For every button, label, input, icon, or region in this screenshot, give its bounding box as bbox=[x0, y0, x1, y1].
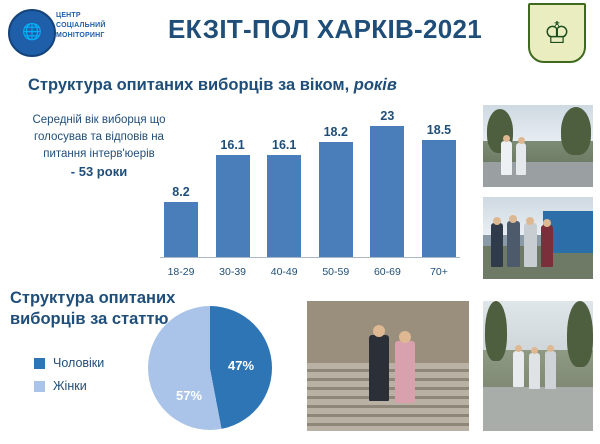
pie-label-women: 57% bbox=[176, 388, 202, 403]
bar-column: 18.5 bbox=[418, 108, 460, 258]
figure-shape bbox=[369, 335, 389, 401]
average-age-value: - 53 роки bbox=[71, 164, 127, 179]
figure-head bbox=[518, 137, 525, 144]
legend-swatch-men bbox=[34, 358, 45, 369]
tree-shape bbox=[485, 301, 507, 361]
average-age-note-line-2: голосував та відповів на bbox=[34, 131, 164, 143]
figure-head bbox=[509, 215, 517, 223]
figure-head bbox=[399, 331, 411, 343]
photo-road bbox=[483, 162, 593, 187]
tree-shape bbox=[561, 107, 591, 155]
figure-shape bbox=[501, 141, 512, 175]
bar-column: 23 bbox=[366, 108, 408, 258]
figure-head bbox=[531, 347, 538, 354]
figure-head bbox=[543, 219, 551, 227]
age-section-title-italic: років bbox=[354, 76, 397, 94]
category-label: 70+ bbox=[418, 266, 460, 278]
photo-voters-on-stairs bbox=[306, 300, 470, 432]
category-label: 30-39 bbox=[212, 266, 254, 278]
figure-shape bbox=[541, 225, 553, 267]
figure-shape bbox=[513, 351, 524, 387]
figure-shape bbox=[507, 221, 520, 267]
age-bar-chart: 8.2 16.1 16.1 18.2 23 18.5 18-29 30-39 4… bbox=[160, 108, 460, 280]
bar-rect bbox=[319, 142, 353, 258]
photo-road bbox=[483, 387, 593, 431]
bar-rect bbox=[216, 155, 250, 258]
bar-column: 8.2 bbox=[160, 108, 202, 258]
bar-rect bbox=[370, 126, 404, 258]
bar-value-label: 16.1 bbox=[220, 138, 244, 152]
figure-shape bbox=[545, 351, 556, 389]
photo-medics-outdoors bbox=[482, 104, 594, 188]
bar-value-label: 8.2 bbox=[172, 185, 189, 199]
figure-head bbox=[515, 345, 522, 352]
bar-value-label: 18.5 bbox=[427, 123, 451, 137]
age-section-title: Структура опитаних виборців за віком, ро… bbox=[28, 76, 397, 95]
tree-shape bbox=[567, 301, 593, 367]
gender-section-title-line-2: виборців за статтю bbox=[10, 310, 169, 328]
figure-shape bbox=[529, 353, 540, 389]
figure-head bbox=[526, 217, 534, 225]
heraldic-horse-icon: ♔ bbox=[544, 19, 571, 49]
figure-shape bbox=[524, 223, 537, 267]
average-age-note-line-1: Середній вік виборця що bbox=[32, 114, 165, 126]
bar-rect bbox=[422, 140, 456, 258]
average-age-note: Середній вік виборця що голосував та від… bbox=[14, 112, 184, 182]
photo-people-walking-park bbox=[482, 300, 594, 432]
bar-column: 16.1 bbox=[212, 108, 254, 258]
logo-badge: 🌐 bbox=[8, 9, 56, 57]
bar-column: 16.1 bbox=[263, 108, 305, 258]
city-crest: ♔ bbox=[528, 3, 586, 63]
bar-value-label: 23 bbox=[380, 109, 394, 123]
category-label: 18-29 bbox=[160, 266, 202, 278]
page-title: ЕКЗІТ-ПОЛ ХАРКІВ-2021 bbox=[140, 14, 510, 45]
globe-icon: 🌐 bbox=[22, 25, 42, 41]
legend-item-women: Жінки bbox=[34, 379, 104, 393]
category-axis-line bbox=[160, 257, 460, 258]
bar-value-label: 16.1 bbox=[272, 138, 296, 152]
bar-column: 18.2 bbox=[315, 108, 357, 258]
bar-value-label: 18.2 bbox=[324, 125, 348, 139]
legend-item-men: Чоловіки bbox=[34, 356, 104, 370]
organization-logo: 🌐 ЦЕНТР СОЦІАЛЬНИЙ МОНІТОРИНГ bbox=[8, 6, 132, 56]
average-age-note-line-3: питання інтерв'юерів bbox=[43, 148, 155, 160]
pie-label-men: 47% bbox=[228, 358, 254, 373]
category-label: 50-59 bbox=[315, 266, 357, 278]
figure-head bbox=[547, 345, 554, 352]
gender-pie-chart: 47% 57% bbox=[148, 306, 272, 430]
category-label: 40-49 bbox=[263, 266, 305, 278]
bar-rect bbox=[164, 202, 198, 258]
figure-head bbox=[493, 217, 501, 225]
gender-legend: Чоловіки Жінки bbox=[34, 356, 104, 402]
figure-shape bbox=[491, 223, 503, 267]
slide-header: 🌐 ЦЕНТР СОЦІАЛЬНИЙ МОНІТОРИНГ ЕКЗІТ-ПОЛ … bbox=[0, 0, 600, 62]
legend-label-men: Чоловіки bbox=[53, 356, 104, 370]
legend-label-women: Жінки bbox=[53, 379, 87, 393]
figure-head bbox=[373, 325, 385, 337]
figure-head bbox=[503, 135, 510, 142]
photo-interviewers-at-tent bbox=[482, 196, 594, 280]
bar-rect bbox=[267, 155, 301, 258]
category-axis-labels: 18-29 30-39 40-49 50-59 60-69 70+ bbox=[160, 266, 460, 278]
age-section-title-plain: Структура опитаних виборців за віком, bbox=[28, 76, 349, 94]
category-label: 60-69 bbox=[366, 266, 408, 278]
gender-section-title-line-1: Структура опитаних bbox=[10, 289, 175, 307]
figure-shape bbox=[516, 143, 526, 175]
legend-swatch-women bbox=[34, 381, 45, 392]
logo-text: ЦЕНТР СОЦІАЛЬНИЙ МОНІТОРИНГ bbox=[56, 11, 132, 41]
bar-series: 8.2 16.1 16.1 18.2 23 18.5 bbox=[160, 108, 460, 258]
figure-shape bbox=[395, 341, 415, 403]
